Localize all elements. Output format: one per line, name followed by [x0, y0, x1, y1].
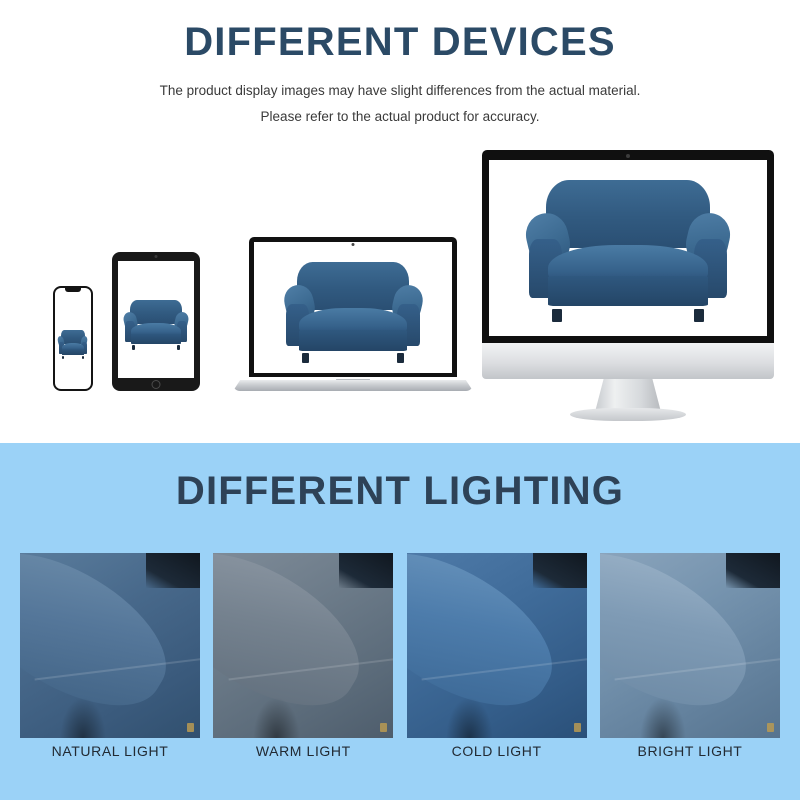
label-natural-light: NATURAL LIGHT: [20, 743, 200, 759]
devices-title: DIFFERENT DEVICES: [0, 20, 800, 65]
fabric-dark-corner: [726, 553, 780, 588]
laptop-lid: [249, 237, 457, 377]
fabric-shadow: [60, 697, 107, 738]
lighting-swatch-row: [20, 553, 780, 738]
sofa-image-monitor: [522, 174, 733, 322]
sofa-foot-left: [62, 356, 64, 359]
lighting-section: DIFFERENT LIGHTING: [0, 443, 800, 800]
sofa-image-tablet: [123, 298, 190, 349]
fabric-tag-icon: [574, 723, 581, 732]
laptop-base: [233, 380, 473, 391]
fabric-tag-icon: [767, 723, 774, 732]
phone-screen: [55, 288, 91, 389]
fabric-shadow: [446, 697, 493, 738]
lighting-label-row: NATURAL LIGHT WARM LIGHT COLD LIGHT BRIG…: [20, 743, 780, 759]
sofa-foot-left: [552, 309, 563, 322]
sofa-foot-left: [132, 345, 135, 350]
label-bright-light: BRIGHT LIGHT: [600, 743, 780, 759]
monitor-stand-base: [570, 408, 686, 421]
phone-notch-icon: [65, 288, 81, 292]
device-tablet: [112, 252, 200, 391]
laptop-camera-icon: [352, 243, 355, 246]
fabric-tag-icon: [187, 723, 194, 732]
sofa-foot-right: [397, 353, 404, 362]
sofa-foot-right: [82, 356, 84, 359]
monitor-screen: [489, 160, 767, 336]
fabric-dark-corner: [533, 553, 587, 588]
devices-stage: [0, 140, 800, 415]
fabric-closeup-cold: [407, 553, 587, 738]
fabric-tag-icon: [380, 723, 387, 732]
sofa-foot-right: [177, 345, 180, 350]
subtitle-line-1: The product display images may have slig…: [0, 78, 800, 104]
fabric-dark-corner: [339, 553, 393, 588]
sofa-base: [548, 276, 709, 306]
laptop-screen: [254, 242, 452, 373]
label-cold-light: COLD LIGHT: [407, 743, 587, 759]
fabric-closeup-natural: [20, 553, 200, 738]
fabric-shadow: [253, 697, 300, 738]
sofa-image-laptop: [282, 258, 425, 363]
tablet-home-button-icon: [152, 380, 161, 389]
sofa-foot-right: [694, 309, 705, 322]
device-laptop: [233, 237, 473, 395]
monitor-camera-icon: [626, 154, 630, 158]
swatch-natural-light: [20, 553, 200, 738]
swatch-warm-light: [213, 553, 393, 738]
label-warm-light: WARM LIGHT: [213, 743, 393, 759]
monitor-chin: [482, 343, 774, 379]
sofa-base: [62, 349, 85, 355]
devices-subtitle: The product display images may have slig…: [0, 78, 800, 130]
fabric-dark-corner: [146, 553, 200, 588]
lighting-title: DIFFERENT LIGHTING: [0, 469, 800, 514]
fabric-closeup-bright: [600, 553, 780, 738]
device-phone: [53, 286, 93, 391]
sofa-image-phone: [58, 328, 88, 358]
tablet-screen: [118, 261, 194, 378]
fabric-closeup-warm: [213, 553, 393, 738]
sofa-base: [299, 330, 407, 351]
swatch-bright-light: [600, 553, 780, 738]
device-monitor: [478, 150, 778, 405]
sofa-foot-left: [302, 353, 309, 362]
swatch-cold-light: [407, 553, 587, 738]
devices-section: DIFFERENT DEVICES The product display im…: [0, 0, 800, 443]
subtitle-line-2: Please refer to the actual product for a…: [0, 104, 800, 130]
tablet-camera-icon: [155, 255, 158, 258]
sofa-base: [131, 334, 182, 344]
monitor-bezel: [482, 150, 774, 343]
fabric-shadow: [640, 697, 687, 738]
